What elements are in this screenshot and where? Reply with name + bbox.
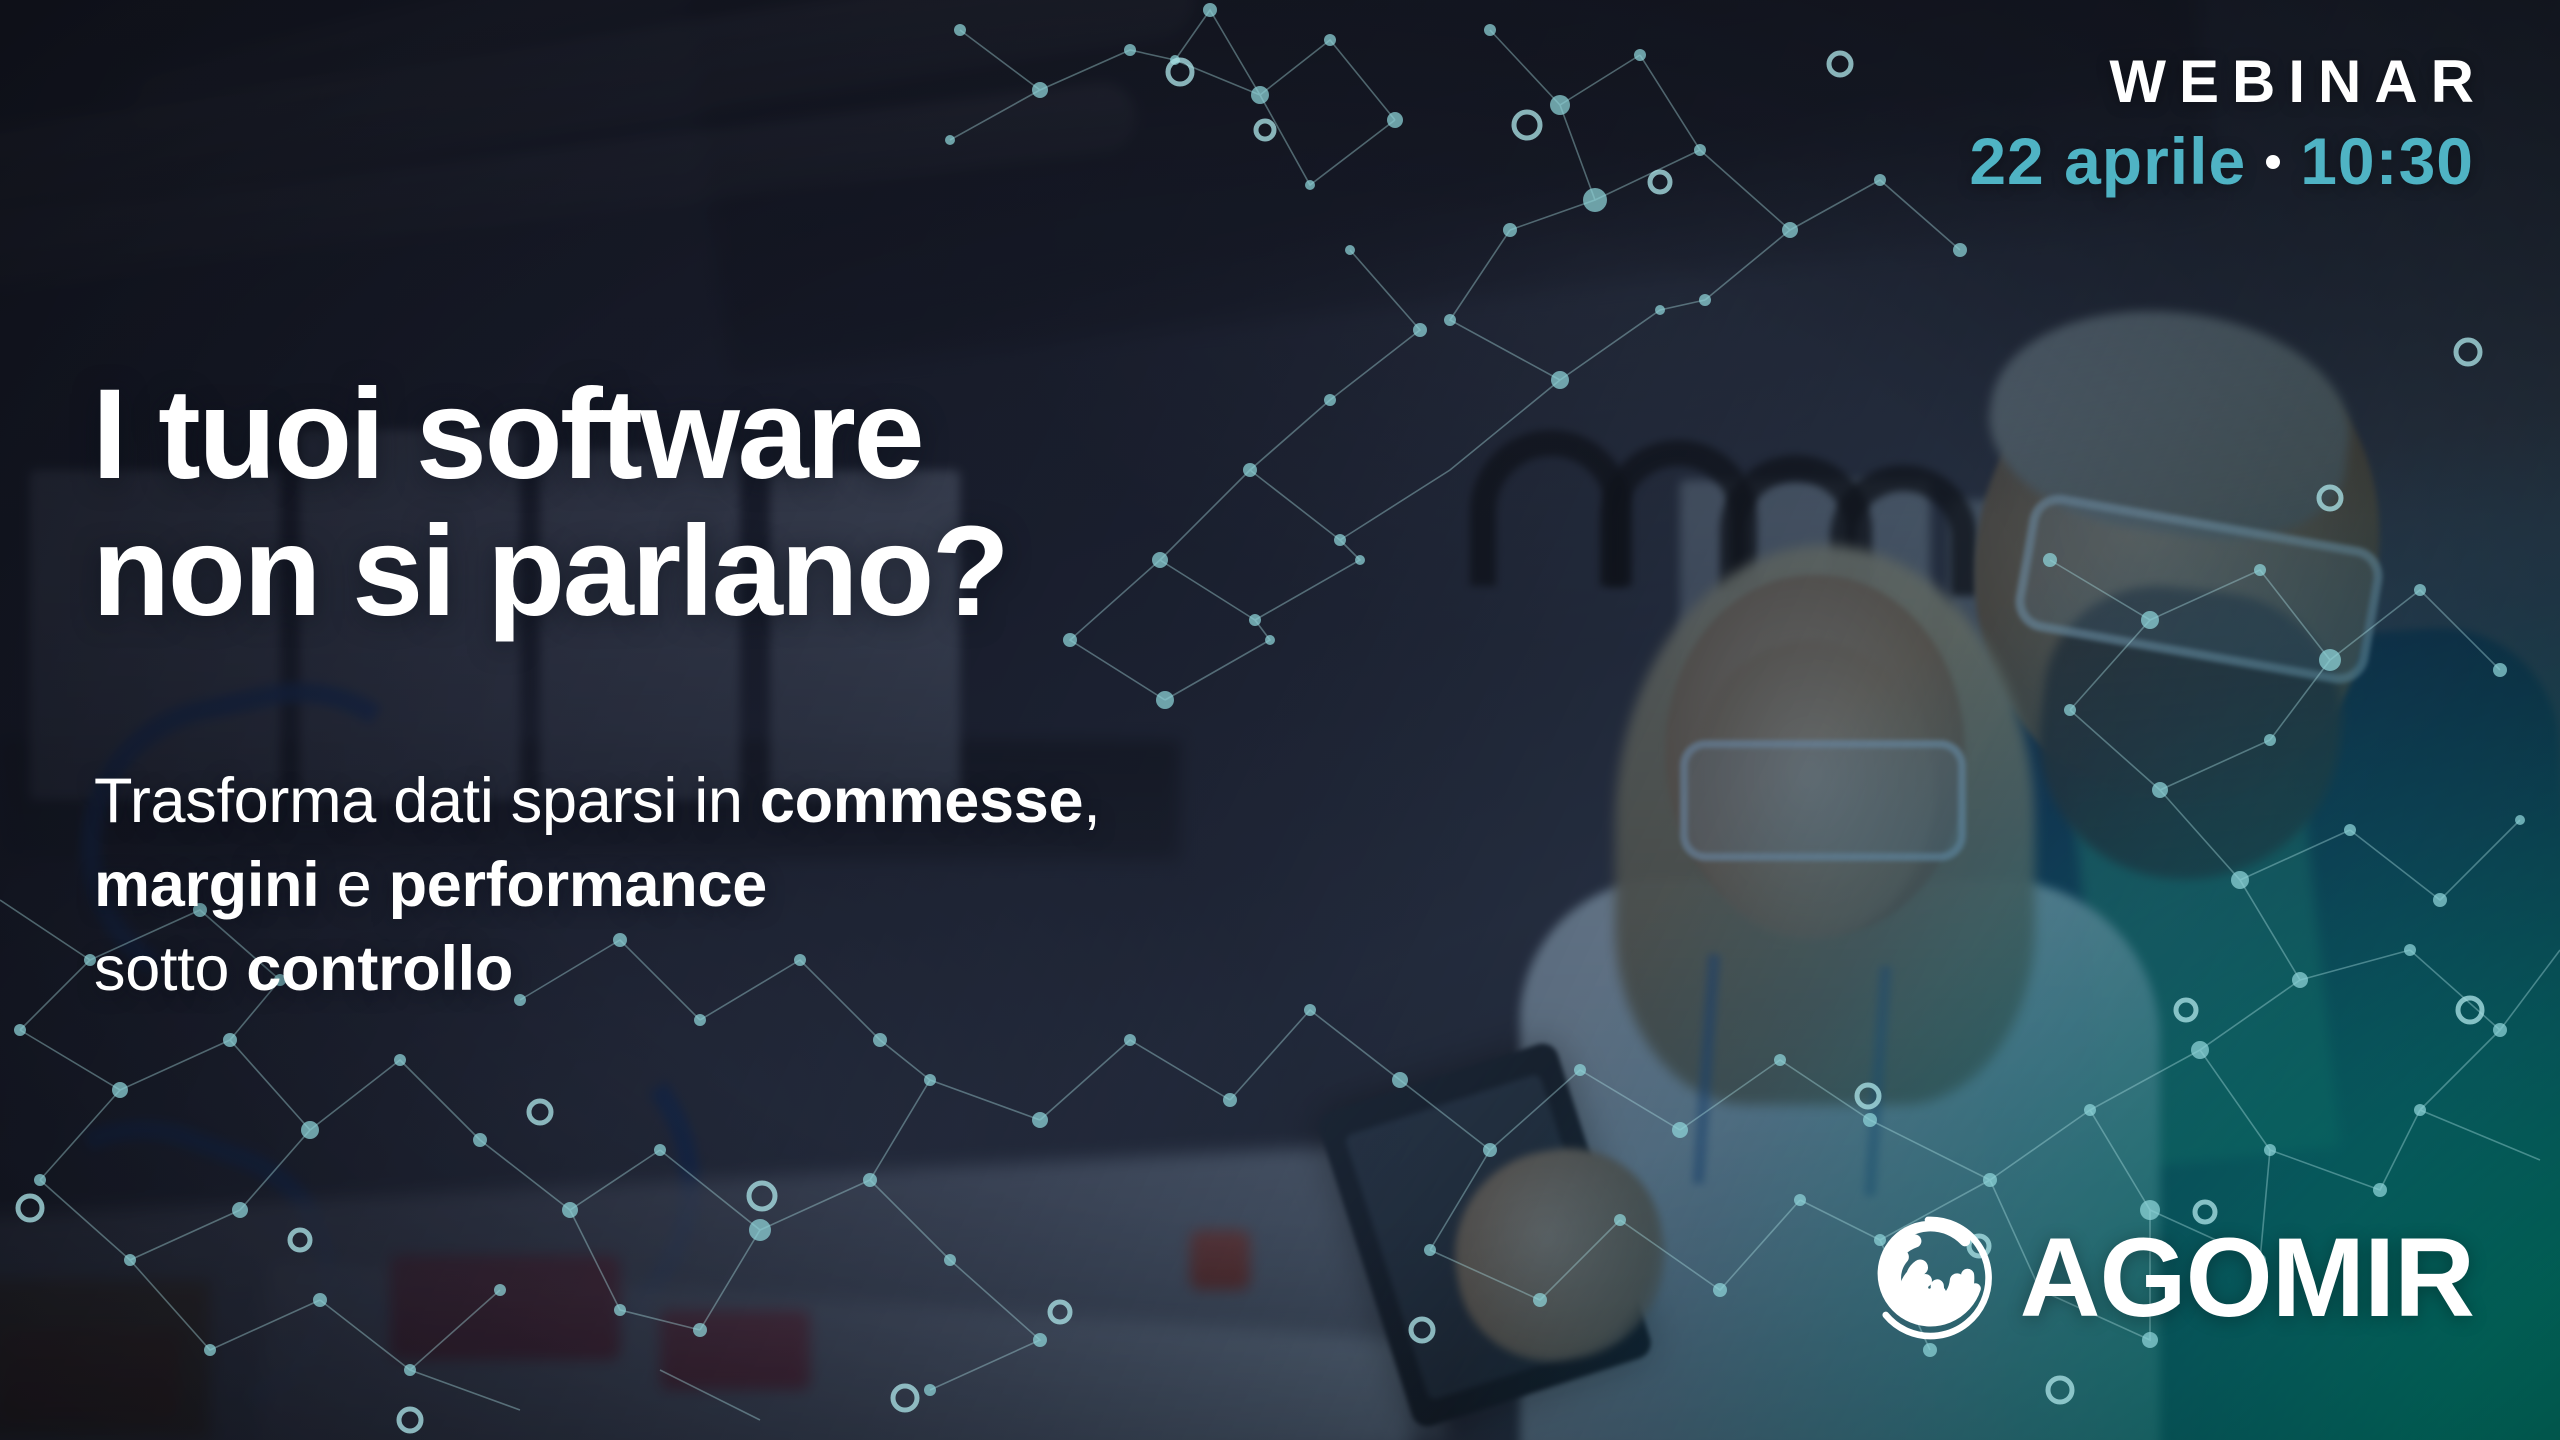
subheadline-emphasis-margini: margini [94,850,319,920]
agomir-wordmark: AGOMIR [2020,1222,2474,1334]
headline: I tuoi software non si parlano? [92,372,1007,635]
subheadline-text: e [319,850,388,920]
subheadline: Trasforma dati sparsi in commesse, margi… [94,760,1100,1011]
subheadline-text: Trasforma dati sparsi in [94,766,760,836]
subheadline-emphasis-controllo: controllo [246,934,513,1004]
spiral-swirl-icon [1862,1212,1994,1344]
subheadline-text: , [1083,766,1100,836]
subheadline-text: sotto [94,934,246,1004]
headline-line-2: non si parlano? [92,509,1007,636]
headline-line-1: I tuoi software [92,372,1007,499]
banner-content: WEBINAR 22 aprile10:30 I tuoi software n… [0,0,2560,1440]
webinar-date: 22 aprile [1969,124,2246,198]
subheadline-line-2: margini e performance [94,844,1100,928]
webinar-time: 10:30 [2300,124,2474,198]
webinar-label: WEBINAR [1969,52,2487,112]
subheadline-line-3: sotto controllo [94,928,1100,1012]
webinar-banner: WEBINAR 22 aprile10:30 I tuoi software n… [0,0,2560,1440]
subheadline-emphasis-performance: performance [389,850,767,920]
agomir-logo[interactable]: AGOMIR [1862,1212,2474,1344]
bullet-separator-icon [2266,155,2280,169]
webinar-eyebrow-block: WEBINAR 22 aprile10:30 [1969,52,2474,194]
subheadline-emphasis-commesse: commesse [760,766,1083,836]
subheadline-line-1: Trasforma dati sparsi in commesse, [94,760,1100,844]
webinar-datetime: 22 aprile10:30 [1969,128,2474,194]
